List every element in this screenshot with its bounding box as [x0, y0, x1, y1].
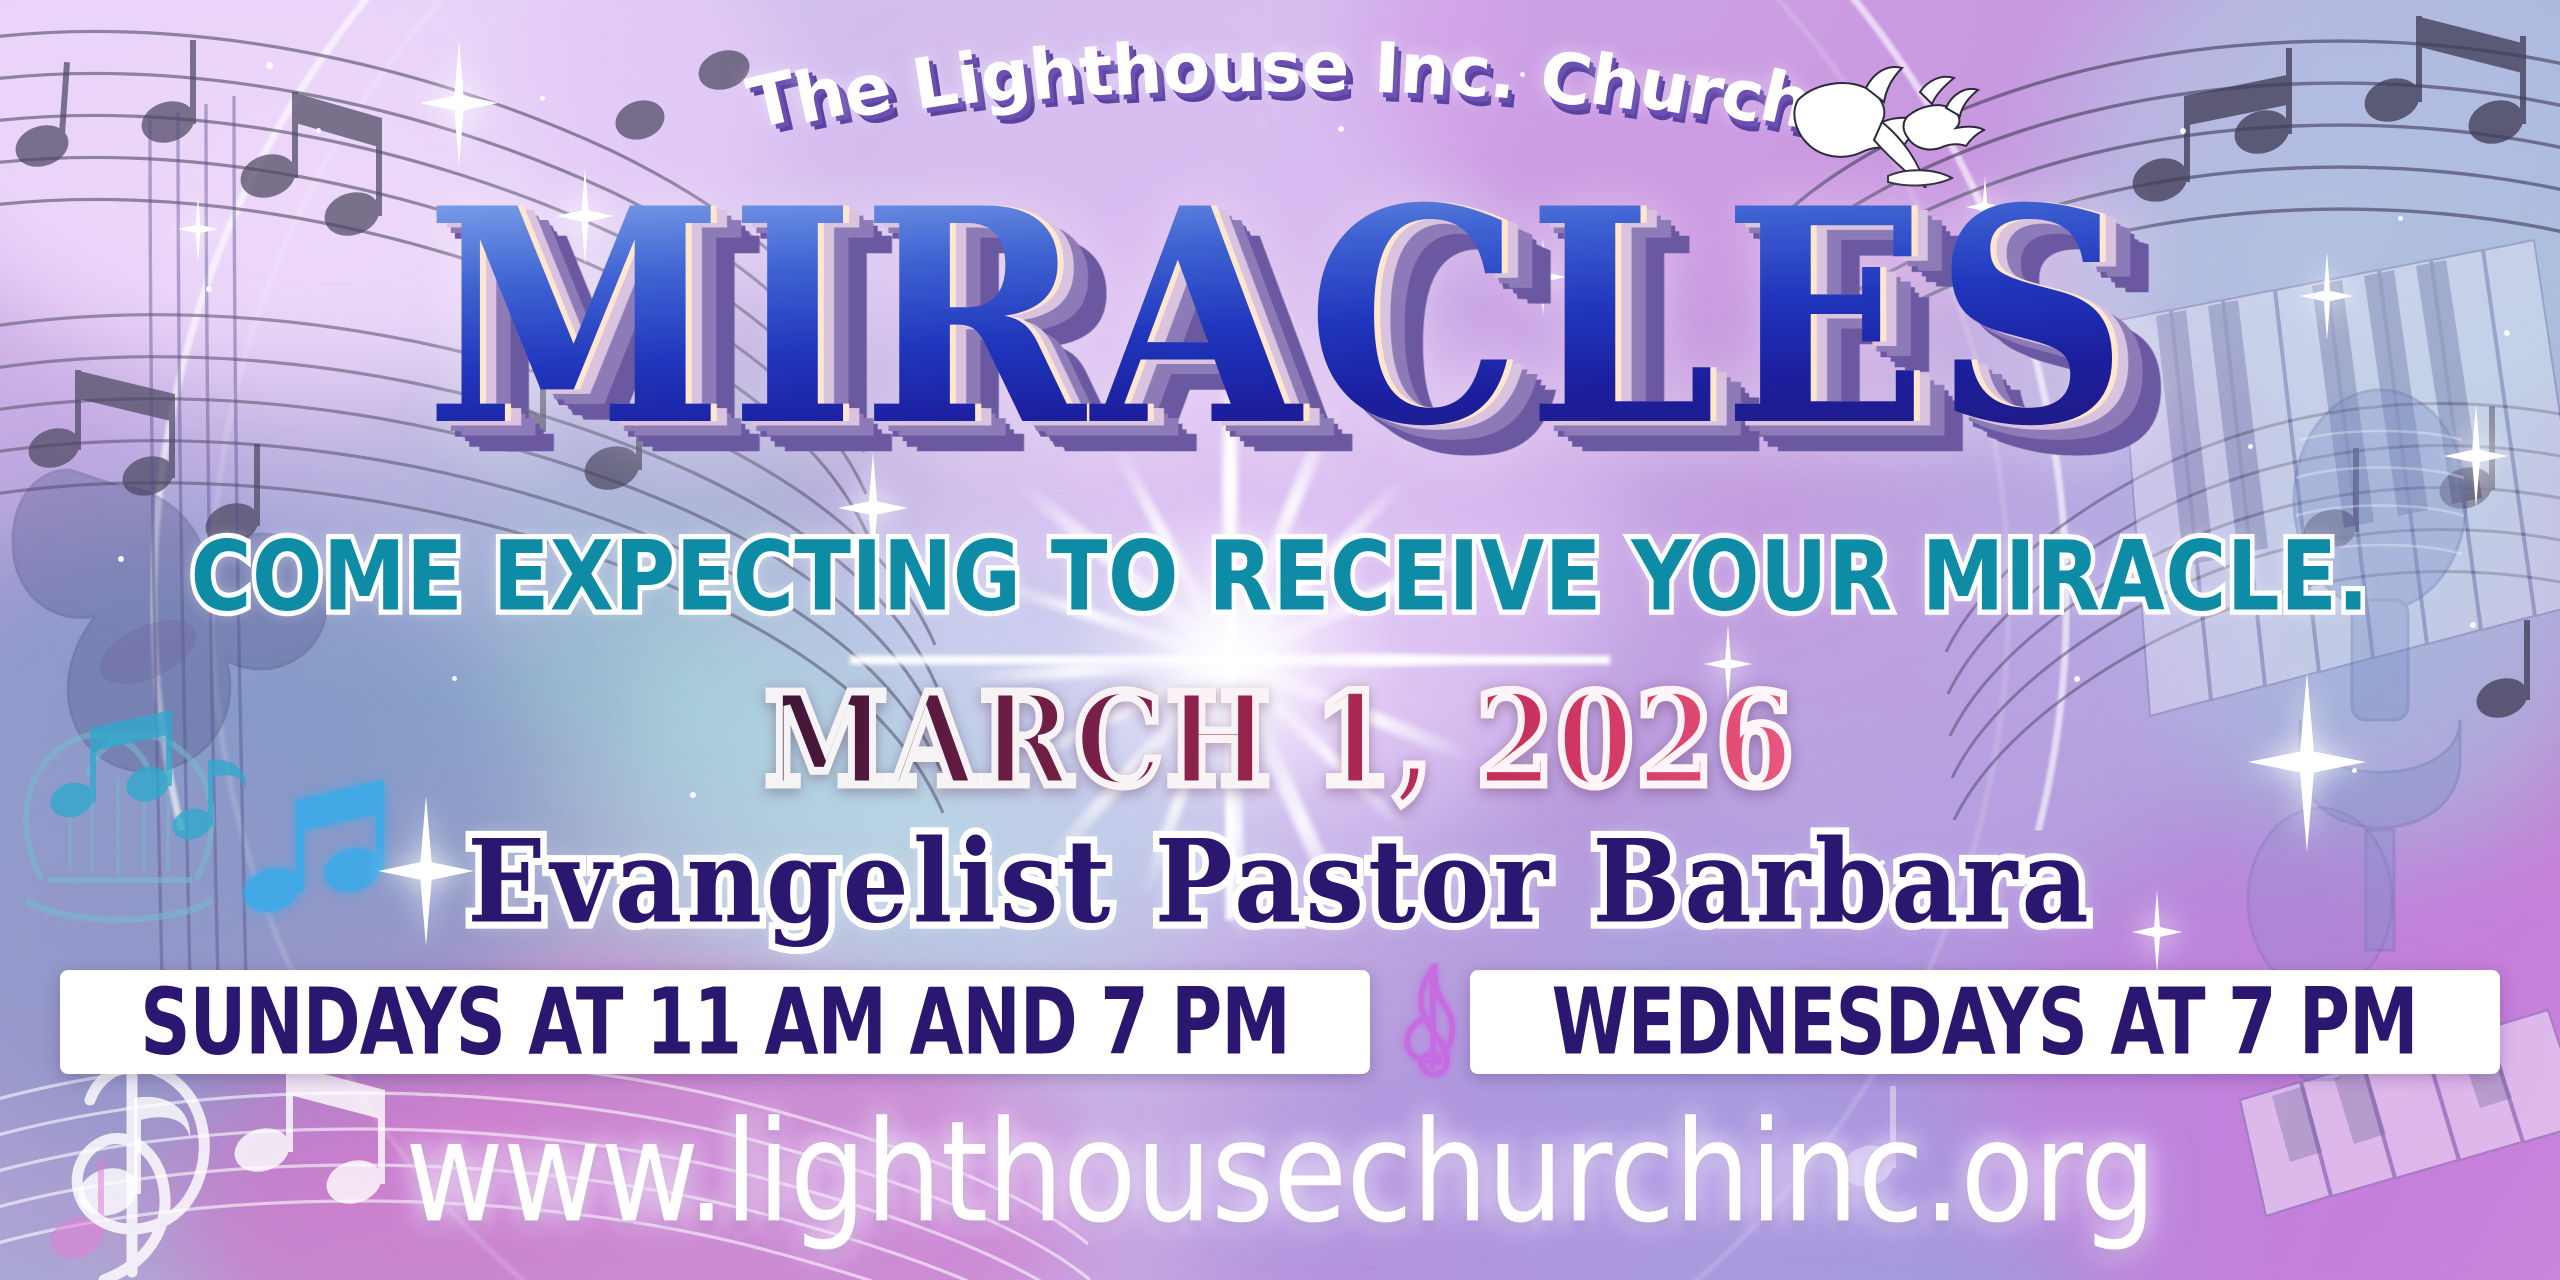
website-url[interactable]: www.lighthousechurchinc.org — [0, 1098, 2560, 1246]
speaker-name: Evangelist Pastor Barbara — [0, 820, 2560, 943]
church-name-char: h — [1110, 27, 1165, 112]
treble-clef-icon-divider — [1393, 962, 1483, 1082]
church-name-char: o — [1161, 26, 1213, 110]
promotional-banner: The Lighthouse Inc. Church MIRACLES COME… — [0, 0, 2560, 1280]
wednesday-service-bar: WEDNESDAYS AT 7 PM — [1470, 970, 2500, 1074]
tagline: COME EXPECTING TO RECEIVE YOUR MIRACLE. — [0, 528, 2560, 625]
church-name-char: s — [1260, 26, 1302, 108]
church-name-char: h — [1026, 30, 1084, 117]
sunday-service-bar: SUNDAYS AT 11 AM AND 7 PM — [60, 970, 1370, 1074]
event-date: MARCH 1, 2026 — [0, 675, 2560, 806]
sunday-service-label: SUNDAYS AT 11 AM AND 7 PM — [140, 968, 1290, 1075]
wednesday-service-label: WEDNESDAYS AT 7 PM — [1552, 968, 2418, 1075]
church-name-char: e — [1302, 26, 1350, 108]
church-name-char: n — [1397, 27, 1452, 112]
event-title: MIRACLES — [0, 186, 2560, 516]
dove-icon-small — [1904, 77, 1985, 150]
event-date-text: MARCH 1, 2026 — [764, 666, 1796, 815]
website-url-text[interactable]: www.lighthousechurchinc.org — [405, 1091, 2155, 1254]
speaker-name-text: Evangelist Pastor Barbara — [467, 814, 2093, 949]
event-title-text: MIRACLES — [425, 170, 2134, 466]
church-name-char: u — [1209, 26, 1261, 109]
tagline-text: COME EXPECTING TO RECEIVE YOUR MIRACLE. — [191, 520, 2370, 633]
church-name-text: The Lighthouse Inc. Church — [741, 26, 1819, 108]
church-name-char — [1348, 26, 1375, 109]
service-times-row: SUNDAYS AT 11 AM AND 7 PM WEDNESDAYS AT … — [60, 968, 2500, 1076]
